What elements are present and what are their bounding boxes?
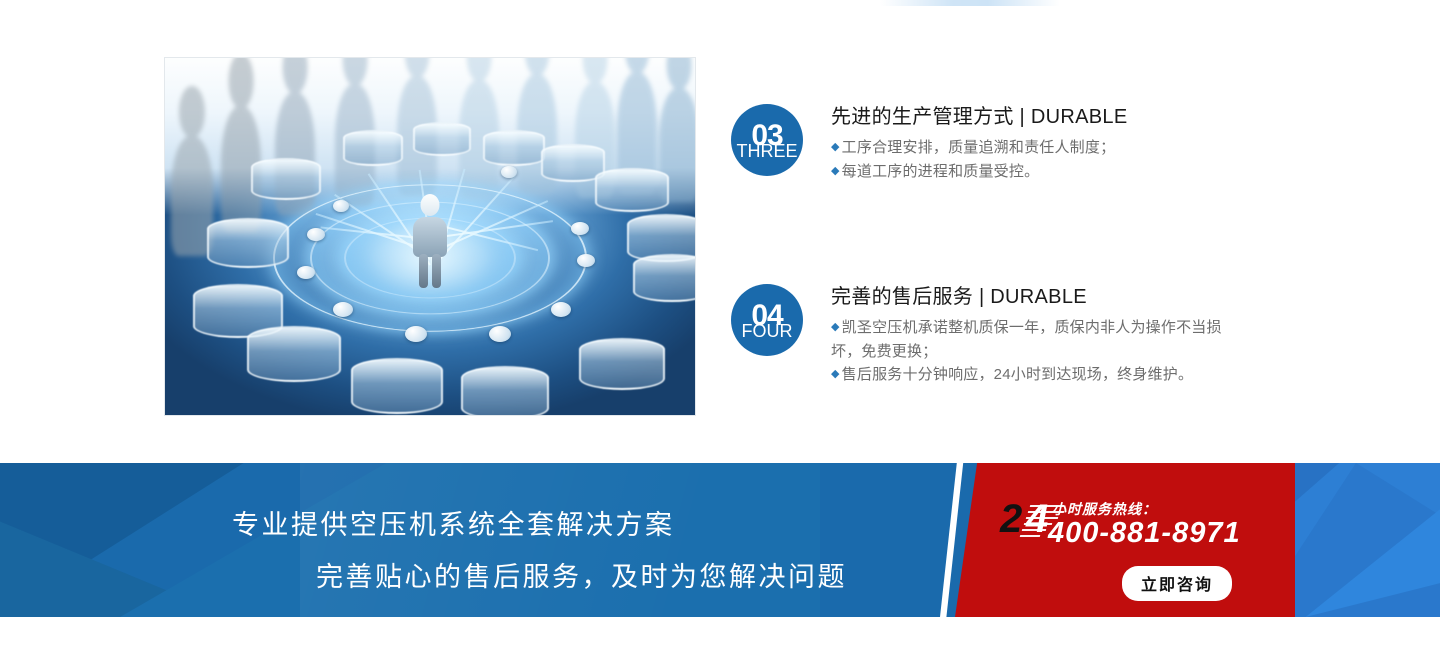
diamond-bullet-icon: ◆ <box>831 141 840 153</box>
node-cylinder <box>595 168 669 212</box>
bullet-text: 凯圣空压机承诺整机质保一年，质保内非人为操作不当损坏，免费更换； <box>831 319 1222 360</box>
network-node <box>551 302 571 317</box>
speed-streak-icon <box>1022 529 1046 531</box>
feature-03-bullet-1: ◆工序合理安排，质量追溯和责任人制度； <box>831 136 1251 160</box>
bullet-text: 工序合理安排，质量追溯和责任人制度； <box>842 139 1116 156</box>
network-node <box>333 302 353 317</box>
slogan-line-2: 完善贴心的售后服务，及时为您解决问题 <box>316 555 847 594</box>
hotline-hours-digit-2: 2 <box>1000 499 1022 539</box>
banner-slogan: 专业提供空压机系统全套解决方案 完善贴心的售后服务，及时为您解决问题 <box>0 463 940 617</box>
badge-03: 03 THREE <box>731 104 803 176</box>
network-node <box>297 266 315 279</box>
speed-streak-icon <box>1020 535 1040 537</box>
badge-04: 04 FOUR <box>731 284 803 356</box>
central-figure <box>411 194 449 286</box>
node-cylinder <box>251 158 321 200</box>
feature-04-bullet-1: ◆凯圣空压机承诺整机质保一年，质保内非人为操作不当损坏，免费更换； <box>831 316 1251 363</box>
diamond-bullet-icon: ◆ <box>831 165 840 177</box>
consult-now-button[interactable]: 立即咨询 <box>1122 566 1232 601</box>
network-node <box>405 326 427 342</box>
diamond-bullet-icon: ◆ <box>831 368 840 380</box>
node-cylinder <box>413 122 471 156</box>
diamond-bullet-icon: ◆ <box>831 321 840 333</box>
network-node <box>501 166 517 178</box>
network-node <box>571 222 589 235</box>
node-cylinder <box>461 366 549 416</box>
node-cylinder <box>483 130 545 166</box>
network-node <box>489 326 511 342</box>
upper-content: 03 THREE 先进的生产管理方式 | DURABLE ◆工序合理安排，质量追… <box>0 0 1440 463</box>
node-cylinder <box>633 254 696 302</box>
node-cylinder <box>579 338 665 390</box>
feature-03-title: 先进的生产管理方式 | DURABLE <box>831 100 1251 129</box>
hotline-number: 400-881-8971 <box>1048 517 1241 550</box>
feature-04-text: 完善的售后服务 | DURABLE ◆凯圣空压机承诺整机质保一年，质保内非人为操… <box>831 280 1251 387</box>
bullet-text: 售后服务十分钟响应，24小时到达现场，终身维护。 <box>842 366 1194 383</box>
feature-04-bullet-2: ◆售后服务十分钟响应，24小时到达现场，终身维护。 <box>831 363 1251 387</box>
bullet-text: 每道工序的进程和质量受控。 <box>842 163 1040 180</box>
feature-04-title: 完善的售后服务 | DURABLE <box>831 280 1251 309</box>
badge-word: THREE <box>736 142 797 160</box>
badge-word: FOUR <box>742 322 793 340</box>
slogan-line-1: 专业提供空压机系统全套解决方案 <box>232 503 675 542</box>
node-cylinder <box>351 358 443 414</box>
hotline-label: 小时服务热线： <box>1052 499 1157 519</box>
network-people-illustration <box>164 57 696 416</box>
node-cylinder <box>343 130 403 166</box>
network-node <box>577 254 595 267</box>
network-node <box>307 228 325 241</box>
node-cylinder <box>207 218 289 268</box>
node-cylinder <box>247 326 341 382</box>
feature-03-text: 先进的生产管理方式 | DURABLE ◆工序合理安排，质量追溯和责任人制度； … <box>831 100 1251 183</box>
network-node <box>333 200 349 212</box>
feature-03-bullet-2: ◆每道工序的进程和质量受控。 <box>831 160 1251 184</box>
